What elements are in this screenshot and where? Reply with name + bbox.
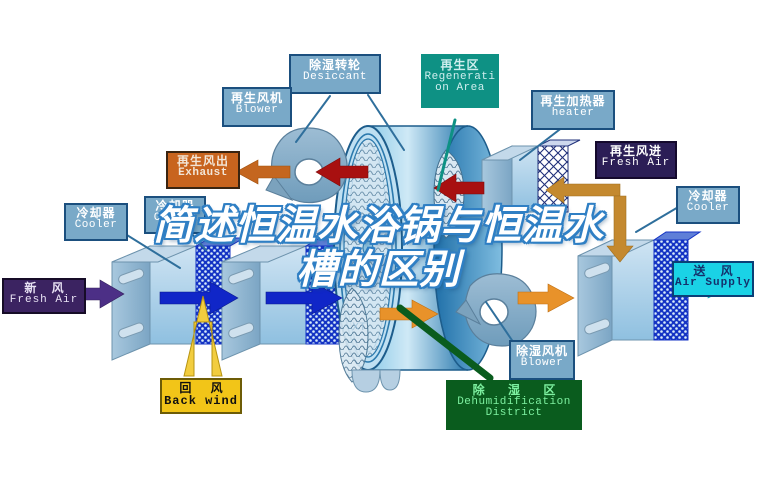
label-cooler-middle-cn: 冷却器 xyxy=(146,200,204,213)
label-regeneration-blower: 再生风机 Blower xyxy=(222,87,292,127)
diagram-canvas: XT xyxy=(0,0,757,488)
label-cooler-right-cn: 冷却器 xyxy=(678,190,738,203)
label-cooler-left: 冷却器 Cooler xyxy=(64,203,128,241)
label-dehumidification-district-cn: 除 湿 区 xyxy=(448,384,580,397)
rotor-watermark: XT xyxy=(352,321,366,333)
regeneration-heater-unit xyxy=(482,140,580,226)
label-regeneration-blower-cn: 再生风机 xyxy=(224,92,290,105)
label-back-wind-en: Back wind xyxy=(162,395,240,408)
label-air-supply-cn: 送 风 xyxy=(674,265,752,278)
label-dehumidification-blower-en: Blower xyxy=(511,358,573,370)
label-fresh-air-cn: 新 风 xyxy=(4,282,84,295)
label-desiccant-en: Desiccant xyxy=(291,72,379,84)
label-regeneration-area-en2: on Area xyxy=(423,83,497,95)
label-regeneration-fresh-air-en: Fresh Air xyxy=(597,158,675,170)
label-air-supply: 送 风 Air Supply xyxy=(672,261,754,297)
label-regeneration-fresh-air-cn: 再生风进 xyxy=(597,145,675,158)
label-regeneration-area: 再生区 Regenerati on Area xyxy=(421,54,499,108)
label-exhaust-cn: 再生风出 xyxy=(168,155,238,168)
label-exhaust: 再生风出 Exhaust xyxy=(166,151,240,189)
label-cooler-middle-en: Cooler xyxy=(146,213,204,225)
label-dehumidification-blower-cn: 除湿风机 xyxy=(511,345,573,358)
label-regeneration-fresh-air: 再生风进 Fresh Air xyxy=(595,141,677,179)
label-regeneration-blower-en: Blower xyxy=(224,105,290,117)
label-cooler-middle: 冷却器 Cooler xyxy=(144,196,206,234)
label-fresh-air: 新 风 Fresh Air xyxy=(2,278,86,314)
label-dehumidification-district: 除 湿 区 Dehumidification District xyxy=(446,380,582,430)
label-cooler-left-en: Cooler xyxy=(66,220,126,232)
label-regeneration-area-cn: 再生区 xyxy=(423,59,497,72)
label-desiccant-cn: 除湿转轮 xyxy=(291,59,379,72)
label-dehumidification-blower: 除湿风机 Blower xyxy=(509,340,575,380)
label-cooler-right: 冷却器 Cooler xyxy=(676,186,740,224)
label-back-wind-cn: 回 风 xyxy=(162,382,240,395)
label-cooler-right-en: Cooler xyxy=(678,203,738,215)
label-dehumidification-district-en2: District xyxy=(448,408,580,420)
label-back-wind: 回 风 Back wind xyxy=(160,378,242,414)
label-heater: 再生加热器 heater xyxy=(531,90,615,130)
label-air-supply-en: Air Supply xyxy=(674,278,752,290)
label-cooler-left-cn: 冷却器 xyxy=(66,207,126,220)
label-heater-en: heater xyxy=(533,108,613,120)
label-heater-cn: 再生加热器 xyxy=(533,95,613,108)
label-desiccant: 除湿转轮 Desiccant xyxy=(289,54,381,94)
label-exhaust-en: Exhaust xyxy=(168,168,238,180)
label-fresh-air-en: Fresh Air xyxy=(4,295,84,307)
